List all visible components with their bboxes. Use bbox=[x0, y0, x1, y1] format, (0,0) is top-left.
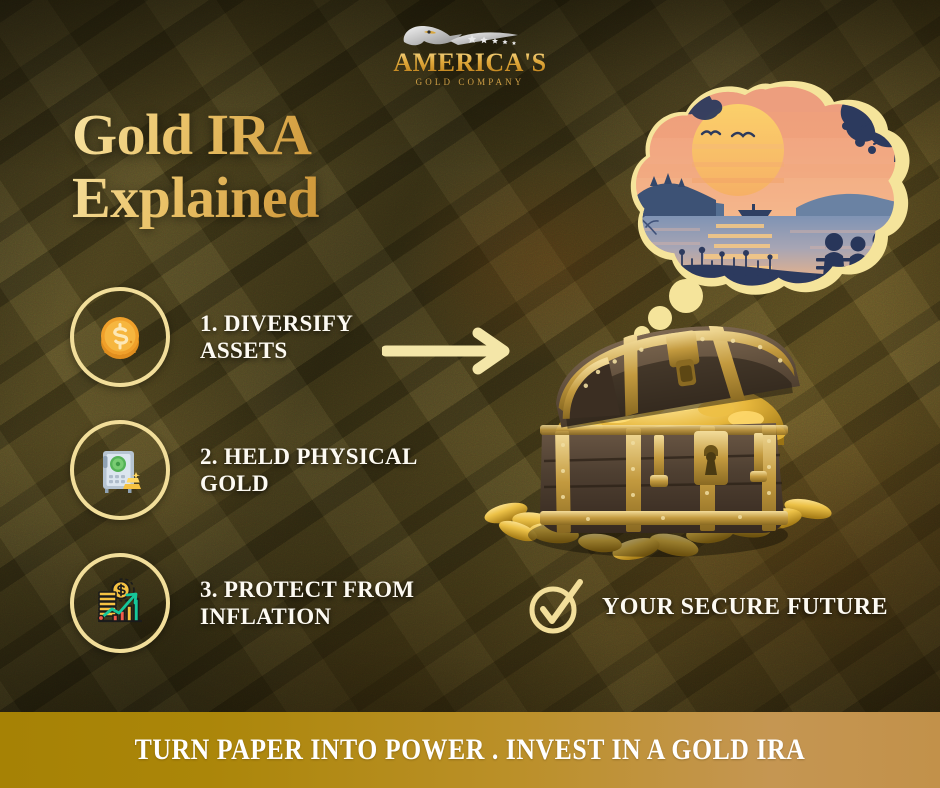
feature-label-2-line-1: 2. HELD PHYSICAL bbox=[200, 443, 450, 470]
feature-icon-ring-1 bbox=[70, 287, 170, 387]
feature-label-2-line-2: GOLD bbox=[200, 470, 450, 497]
feature-label-2: 2. HELD PHYSICAL GOLD bbox=[200, 443, 450, 497]
gold-coin-icon bbox=[92, 309, 148, 365]
bottom-banner-text: TURN PAPER INTO POWER . INVEST IN A GOLD… bbox=[135, 733, 806, 767]
feature-icon-ring-3 bbox=[70, 553, 170, 653]
feature-label-3-line-1: 3. PROTECT FROM bbox=[200, 576, 450, 603]
brand-tagline: GOLD COMPANY bbox=[388, 78, 552, 87]
page-title: Gold IRA Explained bbox=[72, 104, 452, 229]
page-title-line-1: Gold IRA bbox=[72, 104, 452, 167]
feature-item-protect-from-inflation: 3. PROTECT FROM INFLATION bbox=[70, 553, 450, 653]
safe-vault-icon bbox=[92, 442, 148, 498]
feature-item-held-physical-gold: 2. HELD PHYSICAL GOLD bbox=[70, 420, 450, 520]
secure-future-label: YOUR SECURE FUTURE bbox=[602, 594, 888, 621]
growth-chart-coins-icon bbox=[92, 575, 148, 631]
bottom-banner: TURN PAPER INTO POWER . INVEST IN A GOLD… bbox=[0, 712, 940, 788]
brand-logo: AMERICA'S GOLD COMPANY bbox=[388, 22, 552, 88]
feature-label-3: 3. PROTECT FROM INFLATION bbox=[200, 576, 450, 630]
gold-ira-infographic: AMERICA'S GOLD COMPANY Gold IRA Explaine… bbox=[0, 0, 940, 788]
page-title-line-2: Explained bbox=[72, 167, 452, 230]
treasure-chest-gold-coins-icon bbox=[478, 295, 838, 570]
brand-name: AMERICA'S bbox=[388, 50, 552, 76]
secure-future-callout: YOUR SECURE FUTURE bbox=[526, 578, 888, 636]
feature-label-3-line-2: INFLATION bbox=[200, 603, 450, 630]
check-circle-icon bbox=[526, 578, 584, 636]
feature-icon-ring-2 bbox=[70, 420, 170, 520]
